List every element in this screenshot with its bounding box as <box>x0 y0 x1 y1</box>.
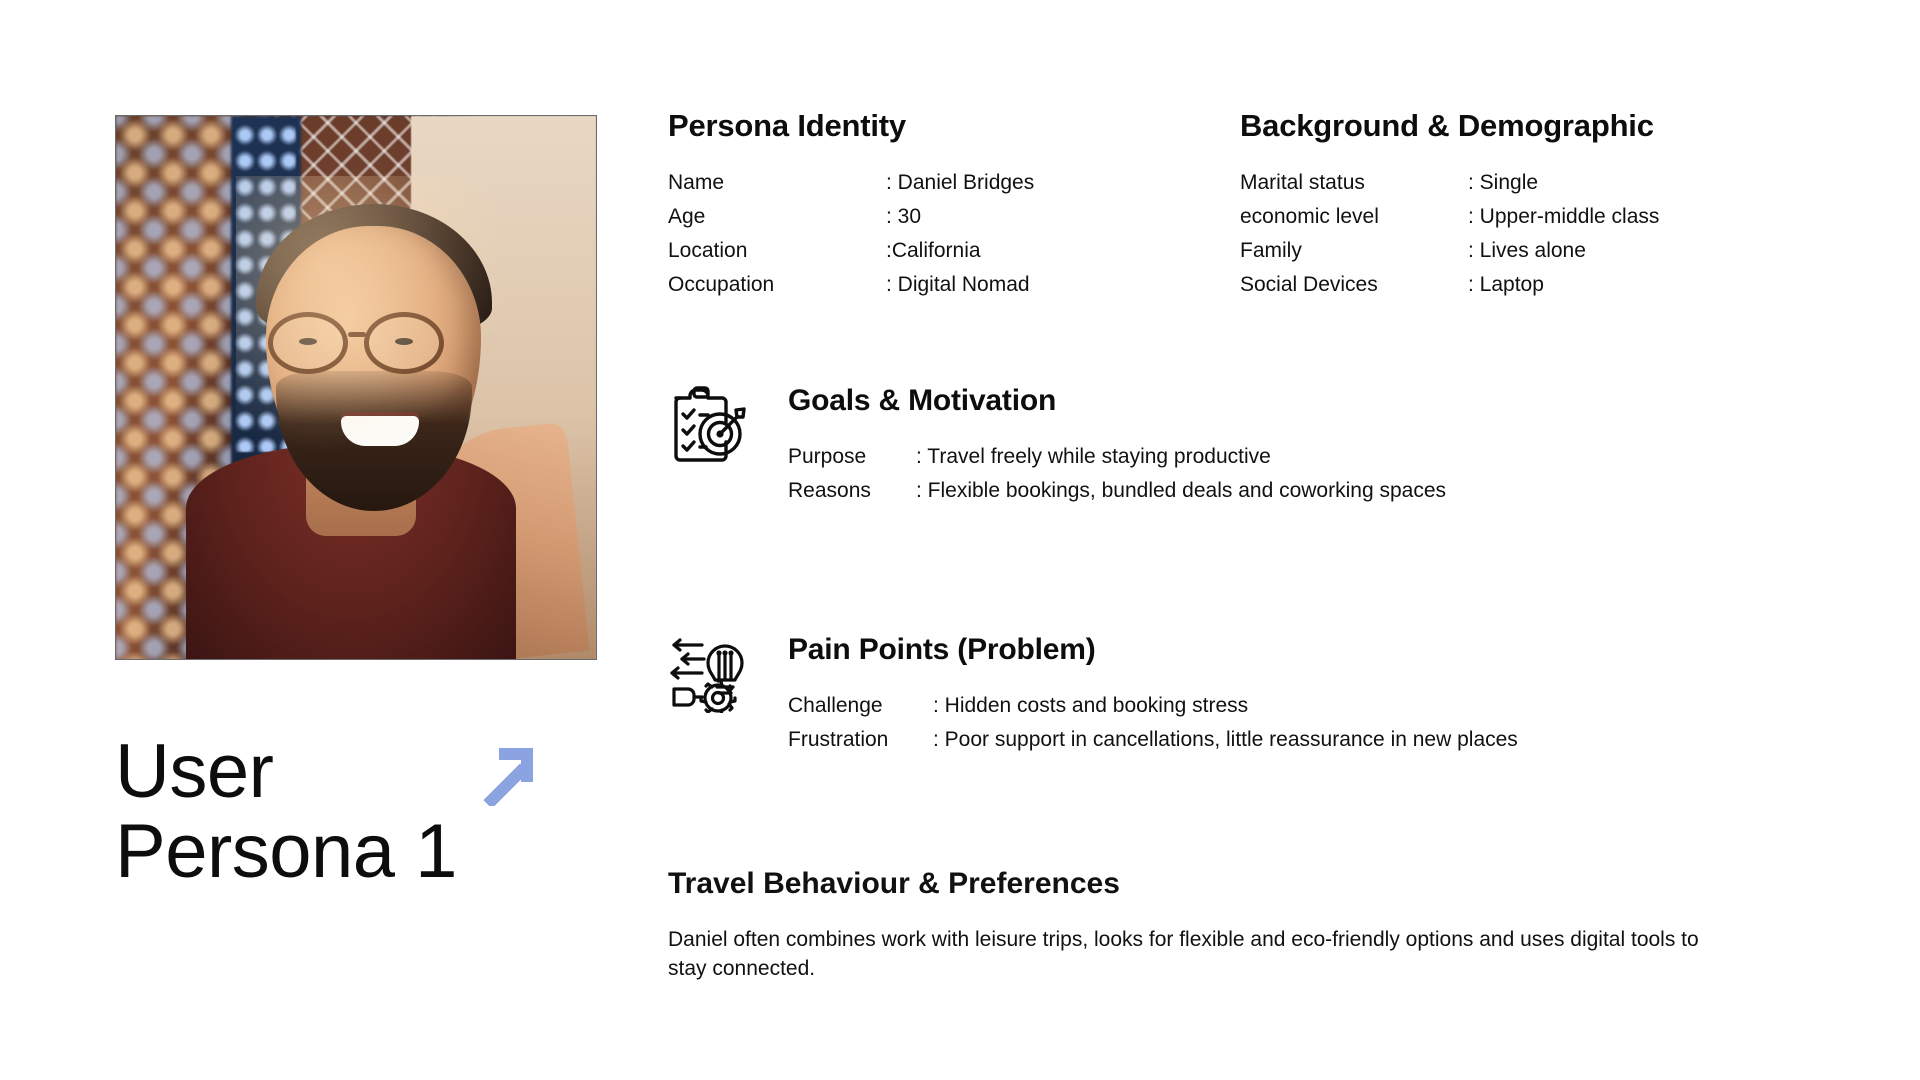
pain-points-section: Pain Points (Problem) Challenge : Hidden… <box>668 633 1828 757</box>
background-value-economic-level: : Upper-middle class <box>1468 200 1800 234</box>
pain-points-value-challenge: : Hidden costs and booking stress <box>933 689 1828 723</box>
persona-identity-heading: Persona Identity <box>668 108 1240 144</box>
top-info-grid: Persona Identity Name : Daniel Bridges A… <box>668 108 1828 302</box>
background-key-economic-level: economic level <box>1240 200 1468 234</box>
lightbulb-settings-gear-icon <box>668 633 788 713</box>
goals-heading: Goals & Motivation <box>788 384 1828 418</box>
identity-value-location: :California <box>886 234 1240 268</box>
goals-row: Reasons : Flexible bookings, bundled dea… <box>788 474 1828 508</box>
background-key-marital-status: Marital status <box>1240 166 1468 200</box>
background-value-social-devices: : Laptop <box>1468 268 1800 302</box>
pain-points-row: Challenge : Hidden costs and booking str… <box>788 689 1828 723</box>
pain-points-key-challenge: Challenge <box>788 689 933 723</box>
background-key-family: Family <box>1240 234 1468 268</box>
identity-key-age: Age <box>668 200 886 234</box>
background-key-social-devices: Social Devices <box>1240 268 1468 302</box>
identity-row: Occupation : Digital Nomad <box>668 268 1240 302</box>
identity-row: Location :California <box>668 234 1240 268</box>
goals-key-purpose: Purpose <box>788 440 916 474</box>
goals-motivation-section: Goals & Motivation Purpose : Travel free… <box>668 384 1828 508</box>
pain-points-value-frustration: : Poor support in cancellations, little … <box>933 723 1828 757</box>
pain-points-key-frustration: Frustration <box>788 723 933 757</box>
pain-points-heading: Pain Points (Problem) <box>788 633 1828 667</box>
persona-identity-list: Name : Daniel Bridges Age : 30 Location … <box>668 166 1240 302</box>
travel-behaviour-body: Daniel often combines work with leisure … <box>668 925 1743 983</box>
background-row: Social Devices : Laptop <box>1240 268 1800 302</box>
background-row: economic level : Upper-middle class <box>1240 200 1800 234</box>
identity-key-location: Location <box>668 234 886 268</box>
background-row: Marital status : Single <box>1240 166 1800 200</box>
goals-body: Goals & Motivation Purpose : Travel free… <box>788 384 1828 508</box>
identity-row: Name : Daniel Bridges <box>668 166 1240 200</box>
goals-value-reasons: : Flexible bookings, bundled deals and c… <box>916 474 1828 508</box>
persona-photo <box>115 115 597 660</box>
background-demographic-list: Marital status : Single economic level :… <box>1240 166 1800 302</box>
identity-row: Age : 30 <box>668 200 1240 234</box>
clipboard-target-icon <box>668 384 788 464</box>
pain-points-body: Pain Points (Problem) Challenge : Hidden… <box>788 633 1828 757</box>
background-value-marital-status: : Single <box>1468 166 1800 200</box>
identity-key-name: Name <box>668 166 886 200</box>
travel-behaviour-heading: Travel Behaviour & Preferences <box>668 867 1828 901</box>
background-demographic-section: Background & Demographic Marital status … <box>1240 108 1800 302</box>
travel-behaviour-section: Travel Behaviour & Preferences Daniel of… <box>668 867 1828 983</box>
identity-value-name: : Daniel Bridges <box>886 166 1240 200</box>
portrait-photo-illustration <box>116 116 596 659</box>
pain-points-list: Challenge : Hidden costs and booking str… <box>788 689 1828 757</box>
goals-key-reasons: Reasons <box>788 474 916 508</box>
left-column: User Persona 1 <box>115 115 605 892</box>
background-row: Family : Lives alone <box>1240 234 1800 268</box>
background-demographic-heading: Background & Demographic <box>1240 108 1800 144</box>
pain-points-row: Frustration : Poor support in cancellati… <box>788 723 1828 757</box>
title-block: User Persona 1 <box>115 732 585 892</box>
goals-row: Purpose : Travel freely while staying pr… <box>788 440 1828 474</box>
goals-list: Purpose : Travel freely while staying pr… <box>788 440 1828 508</box>
goals-value-purpose: : Travel freely while staying productive <box>916 440 1828 474</box>
arrow-up-right-icon <box>475 742 539 806</box>
identity-value-age: : 30 <box>886 200 1240 234</box>
background-value-family: : Lives alone <box>1468 234 1800 268</box>
right-column: Persona Identity Name : Daniel Bridges A… <box>668 108 1828 983</box>
user-persona-slide: User Persona 1 Persona Identity Name <box>0 0 1920 1080</box>
identity-value-occupation: : Digital Nomad <box>886 268 1240 302</box>
persona-identity-section: Persona Identity Name : Daniel Bridges A… <box>668 108 1240 302</box>
identity-key-occupation: Occupation <box>668 268 886 302</box>
